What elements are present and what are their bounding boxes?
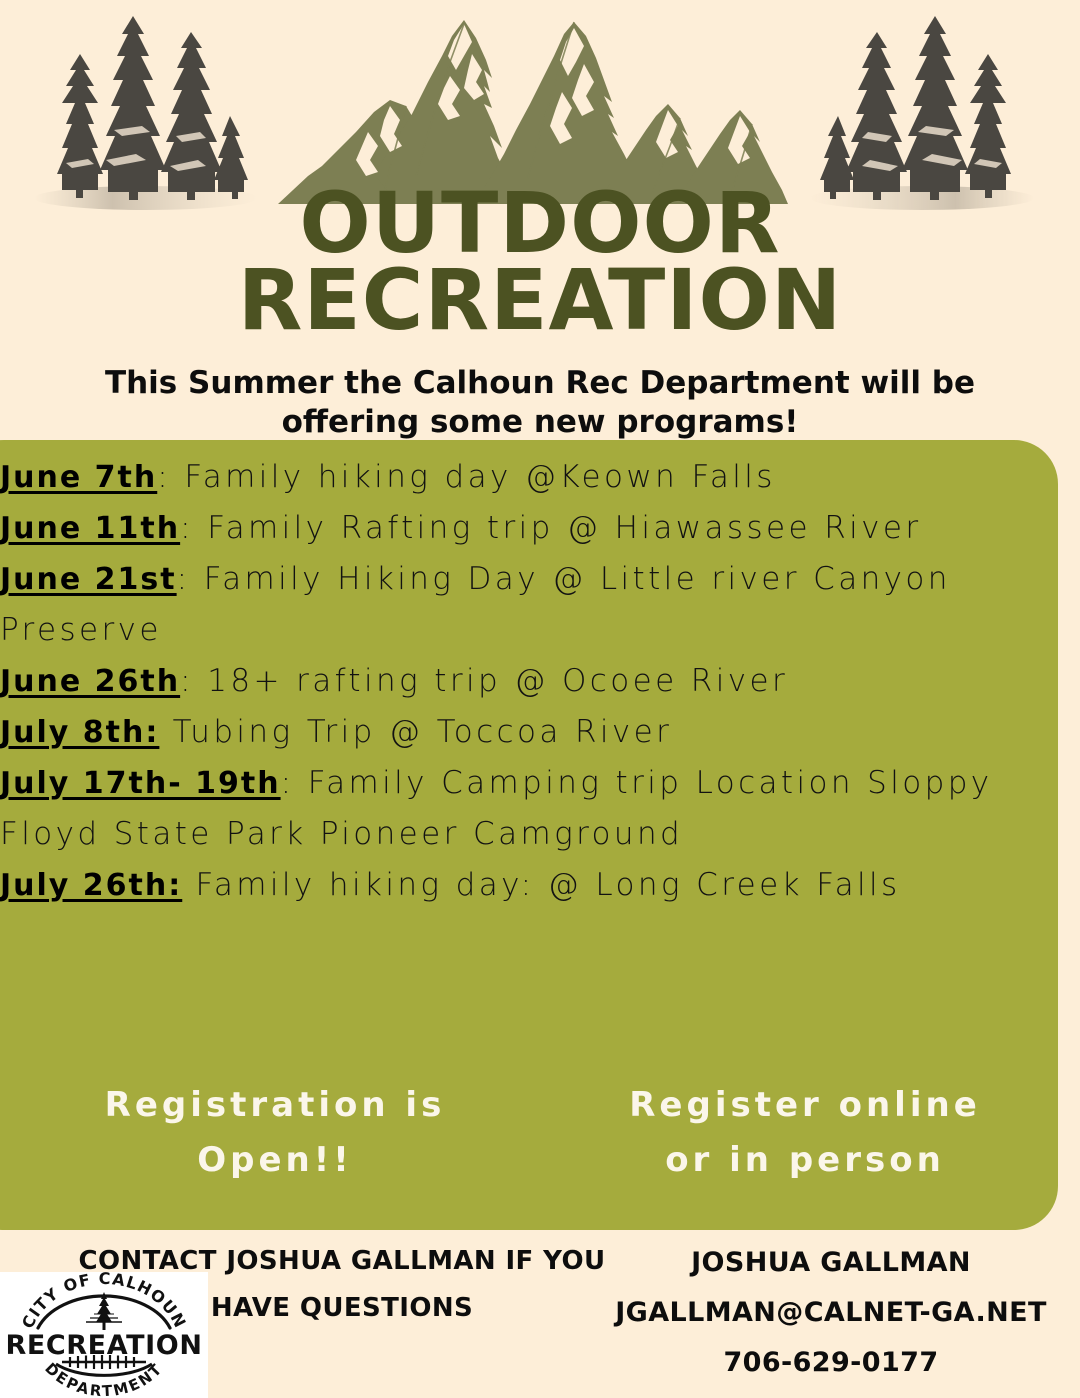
- event-description: Family hiking day @Keown Falls: [184, 459, 775, 495]
- event-separator: :: [157, 459, 184, 495]
- title-line-recreation: RECREATION: [0, 262, 1080, 339]
- list-item: July 26th: Family hiking day: @ Long Cre…: [0, 860, 1018, 911]
- contact-phone[interactable]: 706-629-0177: [596, 1338, 1066, 1388]
- event-separator: [182, 867, 195, 903]
- calhoun-recreation-logo: CITY OF CALHOUN RECREATION DEPARTMENT: [0, 1272, 208, 1398]
- event-description: Tubing Trip @ Toccoa River: [173, 714, 673, 750]
- event-date: June 21st: [0, 562, 177, 597]
- event-list: June 7th: Family hiking day @Keown Falls…: [0, 452, 1018, 911]
- event-separator: :: [177, 561, 204, 597]
- event-description: Family Rafting trip @ Hiawassee River: [207, 510, 921, 546]
- registration-callout: Registration is Open!! Register online o…: [40, 1078, 1040, 1188]
- event-separator: :: [281, 765, 308, 801]
- registration-open-text: Registration is Open!!: [40, 1078, 510, 1188]
- event-date: July 8th:: [0, 715, 159, 750]
- event-date: June 7th: [0, 460, 157, 495]
- event-separator: [159, 714, 172, 750]
- logo-center-text: RECREATION: [5, 1330, 202, 1361]
- event-separator: :: [180, 663, 207, 699]
- list-item: June 26th: 18+ rafting trip @ Ocoee Rive…: [0, 656, 1018, 707]
- list-item: June 21st: Family Hiking Day @ Little ri…: [0, 554, 1018, 656]
- registration-method-text: Register online or in person: [570, 1078, 1040, 1188]
- list-item: June 7th: Family hiking day @Keown Falls: [0, 452, 1018, 503]
- event-description: 18+ rafting trip @ Ocoee River: [207, 663, 788, 699]
- list-item: July 8th: Tubing Trip @ Toccoa River: [0, 707, 1018, 758]
- event-date: June 11th: [0, 511, 180, 546]
- subtitle-text: This Summer the Calhoun Rec Department w…: [40, 364, 1040, 442]
- registration-open-line1: Registration is: [40, 1078, 510, 1133]
- registration-method-line1: Register online: [570, 1078, 1040, 1133]
- event-separator: :: [180, 510, 207, 546]
- registration-method-line2: or in person: [570, 1133, 1040, 1188]
- list-item: July 17th- 19th: Family Camping trip Loc…: [0, 758, 1018, 860]
- event-description: Family hiking day: @ Long Creek Falls: [196, 867, 901, 903]
- contact-email[interactable]: JGALLMAN@CALNET-GA.NET: [596, 1288, 1066, 1338]
- event-date: June 26th: [0, 664, 180, 699]
- contact-details: JOSHUA GALLMAN JGALLMAN@CALNET-GA.NET 70…: [596, 1238, 1066, 1388]
- page-title: OUTDOOR RECREATION: [0, 185, 1080, 340]
- list-item: June 11th: Family Rafting trip @ Hiawass…: [0, 503, 1018, 554]
- event-date: July 26th:: [0, 868, 182, 903]
- event-date: July 17th- 19th: [0, 766, 281, 801]
- contact-name: JOSHUA GALLMAN: [596, 1238, 1066, 1288]
- registration-open-line2: Open!!: [40, 1133, 510, 1188]
